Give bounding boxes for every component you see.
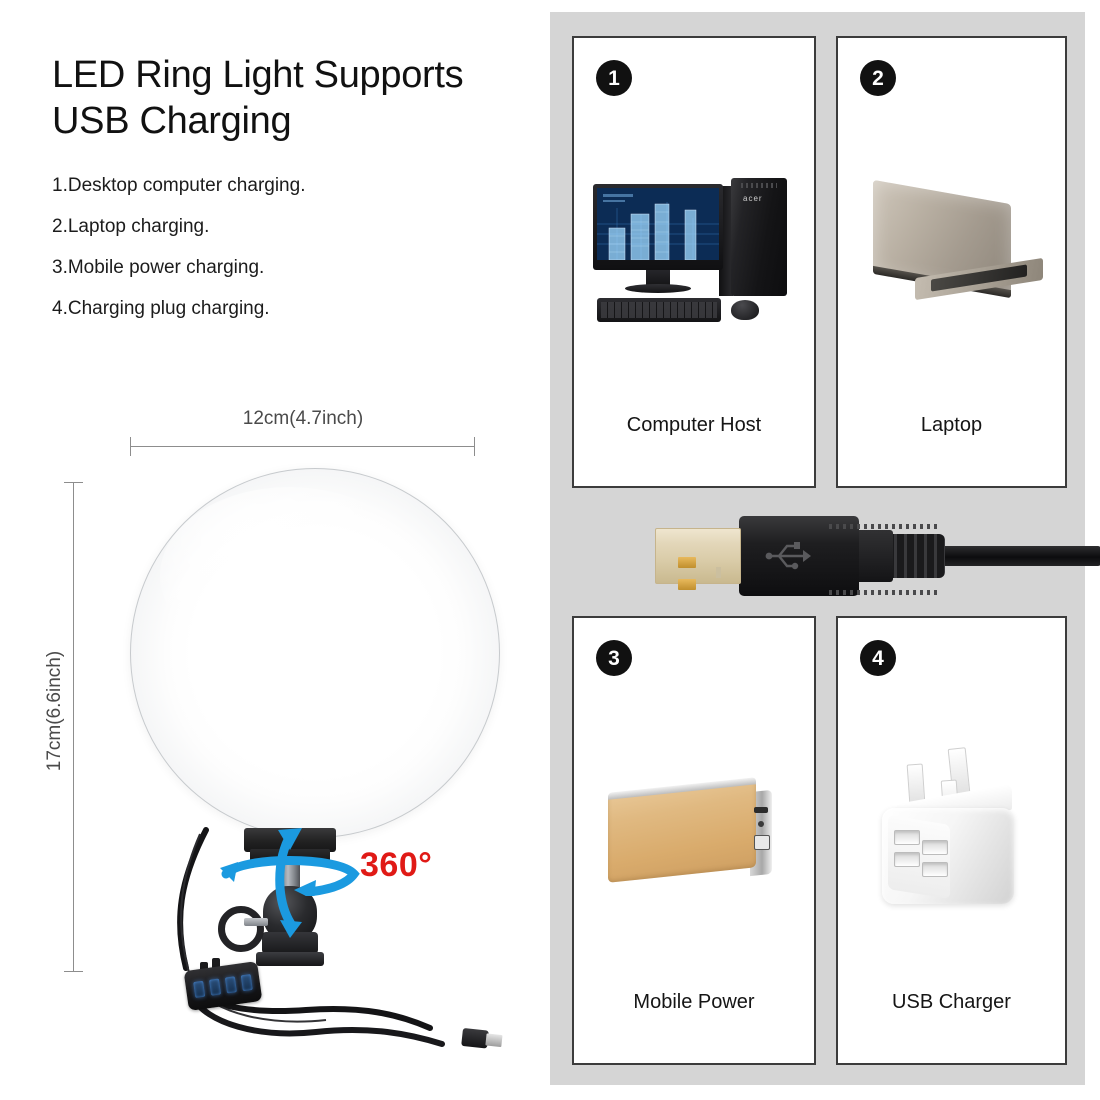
panel-badge-3: 3 [596, 640, 632, 676]
usb-hood-ridge-top [829, 524, 937, 529]
panel-laptop: 2 Laptop [836, 36, 1067, 488]
monitor-base [625, 284, 691, 293]
tower-vent [741, 183, 777, 188]
charger-usb-port-1 [894, 830, 920, 845]
panel-computer-host: 1 acer [572, 36, 816, 488]
screen-wallpaper [597, 188, 719, 260]
charger-usb-port-4 [922, 862, 948, 877]
rotation-degree-label: 360° [360, 846, 432, 885]
tower-brand-logo: acer [743, 194, 763, 203]
charger-usb-port-2 [894, 852, 920, 867]
mount-base [256, 952, 324, 966]
usb-contact-1 [678, 557, 696, 568]
vertical-rotation-arrow-icon [270, 820, 312, 938]
height-dimension-cap-bottom [64, 971, 83, 972]
usb-hood-ridge-bottom [829, 590, 937, 595]
power-bank-indicator [758, 821, 764, 827]
usb-shell-notch [716, 567, 721, 578]
height-dimension-cap-top [64, 482, 83, 483]
controller-button-1[interactable] [193, 981, 205, 998]
computer-tower: acer [731, 178, 787, 296]
usb-hood-taper [853, 530, 893, 582]
usb-a-connector-illustration [655, 512, 1100, 598]
controller-button-2[interactable] [209, 978, 221, 995]
knob-shaft [244, 918, 268, 926]
width-dimension-line [130, 446, 475, 447]
panel-caption-3: Mobile Power [574, 983, 814, 1063]
panel-mobile-power: 3 Mobile Power [572, 616, 816, 1065]
usb-strain-relief [887, 534, 945, 578]
power-bank-illustration [574, 682, 814, 979]
controller-button-3[interactable] [225, 976, 237, 993]
ring-light-inner-hole [224, 562, 405, 743]
monitor-bezel [593, 184, 723, 270]
height-dimension-label: 17cm(6.6inch) [44, 611, 66, 811]
ring-light-product-image [130, 468, 500, 838]
keyboard-keys [601, 302, 717, 318]
monitor-screen [597, 188, 719, 260]
usb-connector-cable [941, 546, 1100, 566]
panel-caption-4: USB Charger [838, 983, 1065, 1063]
panel-usb-charger: 4 USB Charger [836, 616, 1067, 1065]
height-dimension-line [73, 482, 74, 972]
feature-item-1: 1.Desktop computer charging. [52, 176, 492, 195]
product-infographic: LED Ring Light Supports USB Charging 1.D… [0, 0, 1100, 1100]
usb-trident-icon [763, 536, 815, 576]
panel-caption-2: Laptop [838, 406, 1065, 486]
feature-list: 1.Desktop computer charging. 2.Laptop ch… [52, 176, 492, 340]
controller-button-4[interactable] [241, 974, 253, 991]
width-dimension-cap-left [130, 437, 131, 456]
cable-usb-plug-metal [485, 1033, 502, 1047]
usb-contact-2 [678, 579, 696, 590]
plug-pin-left [906, 763, 925, 804]
power-bank-usb-port [754, 835, 770, 850]
feature-item-4: 4.Charging plug charging. [52, 299, 492, 318]
panel-badge-2: 2 [860, 60, 896, 96]
cable-usb-plug-shell [461, 1028, 489, 1049]
width-dimension-label: 12cm(4.7inch) [128, 408, 478, 430]
mount-locking-knob[interactable] [218, 906, 264, 940]
panel-badge-1: 1 [596, 60, 632, 96]
left-column: LED Ring Light Supports USB Charging 1.D… [0, 0, 550, 1100]
panel-badge-4: 4 [860, 640, 896, 676]
laptop-illustration [838, 102, 1065, 402]
usb-charger-illustration [838, 682, 1065, 979]
knob-ring [218, 906, 264, 952]
power-bank-micro-port [754, 807, 768, 813]
keyboard [597, 298, 721, 322]
page-title: LED Ring Light Supports USB Charging [52, 52, 512, 145]
panel-caption-1: Computer Host [574, 406, 814, 486]
feature-item-3: 3.Mobile power charging. [52, 258, 492, 277]
feature-item-2: 2.Laptop charging. [52, 217, 492, 236]
usb-metal-shell [655, 528, 741, 584]
width-dimension-cap-right [474, 437, 475, 456]
charger-usb-port-3 [922, 840, 948, 855]
ball-head-mount [230, 828, 350, 968]
desktop-computer-illustration: acer [574, 102, 814, 402]
mouse [731, 300, 759, 320]
